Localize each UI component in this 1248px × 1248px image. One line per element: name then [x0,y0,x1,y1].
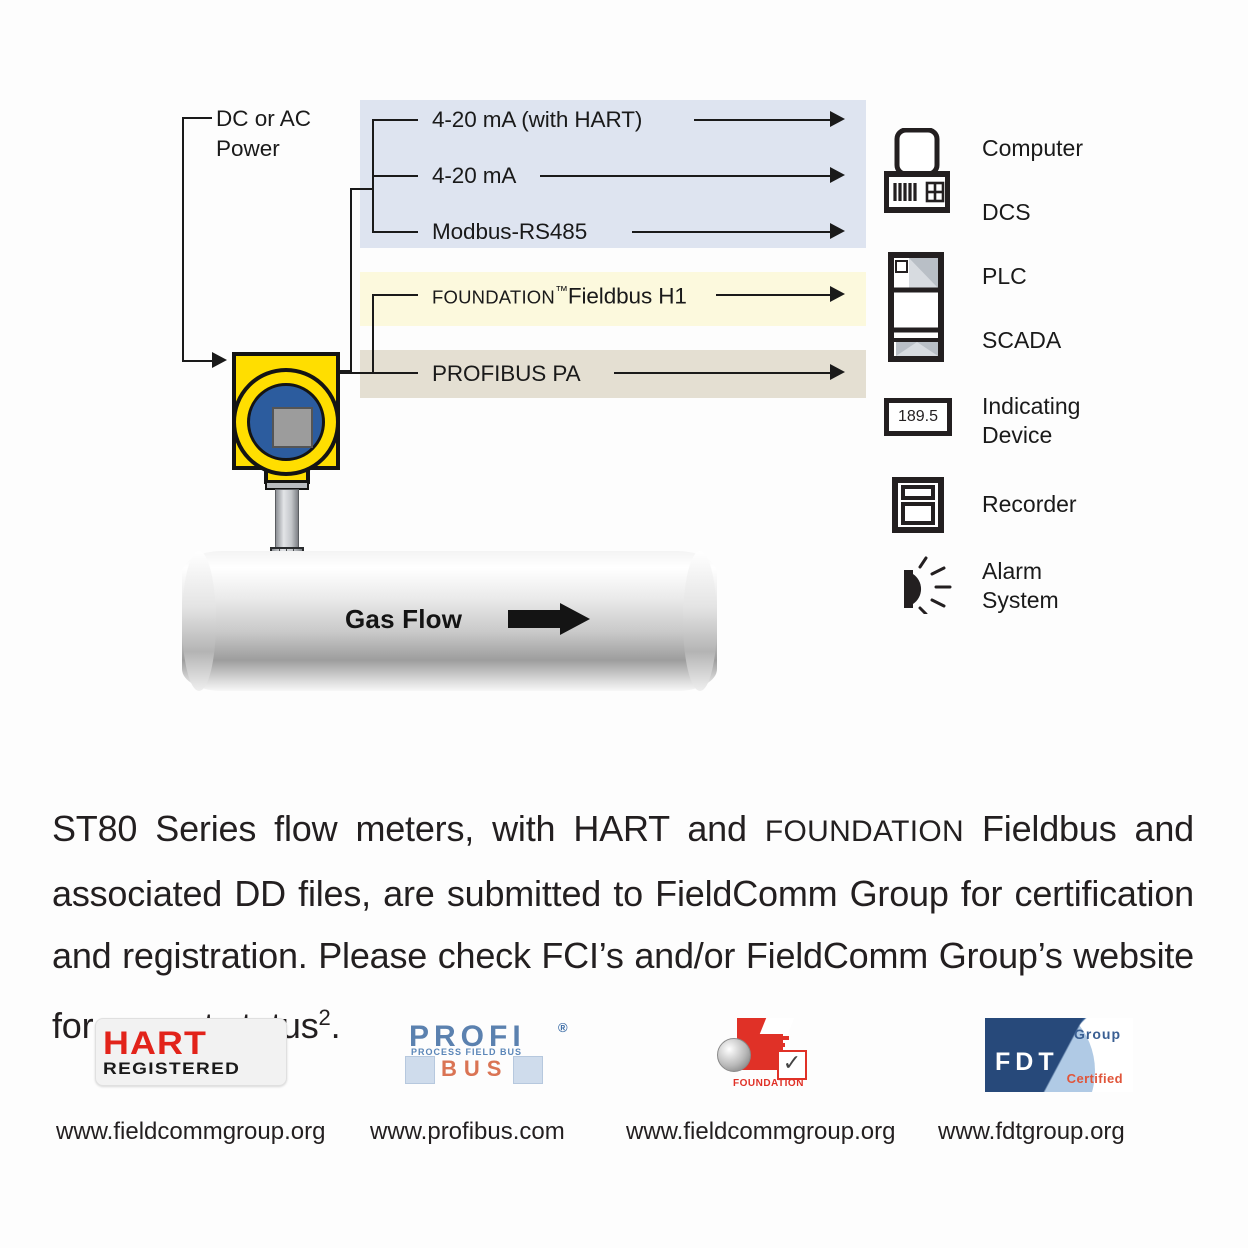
certification-logo-row: HART REGISTERED PROFI PROCESS FIELD BUS … [0,1008,1248,1108]
transmitter-electrical-riser [350,188,352,370]
signal-line-profibus-pa [614,372,834,374]
signal-arrow-foundation-fieldbus [830,286,845,302]
signal-arrow-420ma [830,167,845,183]
legend-label-alarm-system: Alarm System [982,557,1059,615]
pipe-end-left [182,551,216,691]
hart-logo-line1: HART [103,1025,207,1062]
computer-icon [884,128,950,216]
signal-arrow-hart [830,111,845,127]
profibus-tile [513,1056,543,1084]
power-stub-line [182,117,212,119]
ff-logo-globe-icon [717,1038,751,1072]
fdt-logo-group-text: Group [1074,1026,1121,1042]
signal-label-modbus: Modbus-RS485 [432,219,587,245]
ff-logo-notch [760,1018,794,1034]
foundation-fieldbus-logo[interactable]: ✓ FOUNDATION [715,1016,825,1096]
fieldbus-bracket-vertical [372,294,374,372]
signal-label-420ma: 4-20 mA [432,163,516,189]
indicating-device-icon: 189.5 [884,398,952,436]
profibus-logo-line2: BUS [441,1056,508,1082]
power-source-label: DC or AC Power [216,104,311,164]
signal-label-foundation-fieldbus: FOUNDATION™Fieldbus H1 [432,283,687,310]
foundation-wordmark: FOUNDATION [432,287,555,308]
fdt-group-logo[interactable]: FDT Group Certified [985,1018,1133,1092]
legend-label-computer: Computer [982,134,1083,163]
signal-line-foundation-fieldbus [716,294,834,296]
signal-line-420ma [540,175,834,177]
plc-rack-icon [888,252,944,362]
fieldbus-h1-text: Fieldbus H1 [568,284,687,309]
ff-logo-bar [765,1043,785,1047]
transmitter-stem [275,489,299,549]
fieldbus-branch-ff [372,294,418,296]
signal-line-hart [694,119,834,121]
page-root: DC or AC Power 4-20 mA (with HART) 4-20 … [0,0,1248,1248]
url-fieldcommgroup-hart[interactable]: www.fieldcommgroup.org [56,1118,325,1146]
profibus-registered-mark: ® [558,1020,568,1035]
pipe-end-right [683,551,717,691]
electrical-branch-modbus [372,231,418,233]
legend-label-plc: PLC [982,262,1027,291]
system-architecture-diagram: DC or AC Power 4-20 mA (with HART) 4-20 … [0,0,1248,740]
power-vertical-line [182,117,184,360]
transmitter-display [272,407,313,448]
hart-logo-line2: REGISTERED [103,1059,240,1079]
alarm-beacon-icon [898,556,954,614]
fdt-logo-text: FDT [995,1048,1059,1077]
signal-label-hart: 4-20 mA (with HART) [432,107,642,133]
ff-logo-wordmark: FOUNDATION [733,1078,804,1089]
legend-label-scada: SCADA [982,326,1061,355]
hart-registered-logo[interactable]: HART REGISTERED [95,1018,287,1086]
legend-label-indicating-device: Indicating Device [982,392,1080,450]
signal-label-profibus-pa: PROFIBUS PA [432,361,581,387]
gas-flow-arrow-head [560,603,590,635]
profibus-tile [405,1056,435,1084]
legend-label-dcs: DCS [982,198,1031,227]
power-feed-line [182,360,214,362]
fieldbus-branch-pa [338,372,418,374]
url-fdtgroup[interactable]: www.fdtgroup.org [938,1118,1125,1146]
gas-flow-arrow-shaft [508,610,562,628]
electrical-trunk-line [350,188,372,190]
transmitter-inner-ring [247,383,325,461]
legend-label-recorder: Recorder [982,490,1077,519]
recorder-icon [892,477,944,533]
power-feed-arrow [212,352,227,368]
signal-arrow-modbus [830,223,845,239]
indicating-device-value: 189.5 [889,403,947,431]
electrical-branch-420 [372,175,418,177]
gas-flow-label: Gas Flow [345,604,462,635]
foundation-wordmark-body: FOUNDATION [765,815,964,848]
ff-logo-bar [765,1036,789,1040]
signal-arrow-profibus-pa [830,364,845,380]
paragraph-part-1: ST80 Series flow meters, with HART and [52,808,765,849]
electrical-branch-hart [372,119,418,121]
ff-logo-check-icon: ✓ [777,1050,807,1080]
signal-line-modbus [632,231,834,233]
url-fieldcommgroup-ff[interactable]: www.fieldcommgroup.org [626,1118,895,1146]
transmitter-bezel-ring [232,368,340,476]
url-profibus[interactable]: www.profibus.com [370,1118,565,1146]
fdt-logo-certified-text: Certified [1067,1071,1123,1086]
trademark-symbol: ™ [555,283,568,298]
profibus-logo[interactable]: PROFI PROCESS FIELD BUS BUS ® [395,1020,580,1086]
